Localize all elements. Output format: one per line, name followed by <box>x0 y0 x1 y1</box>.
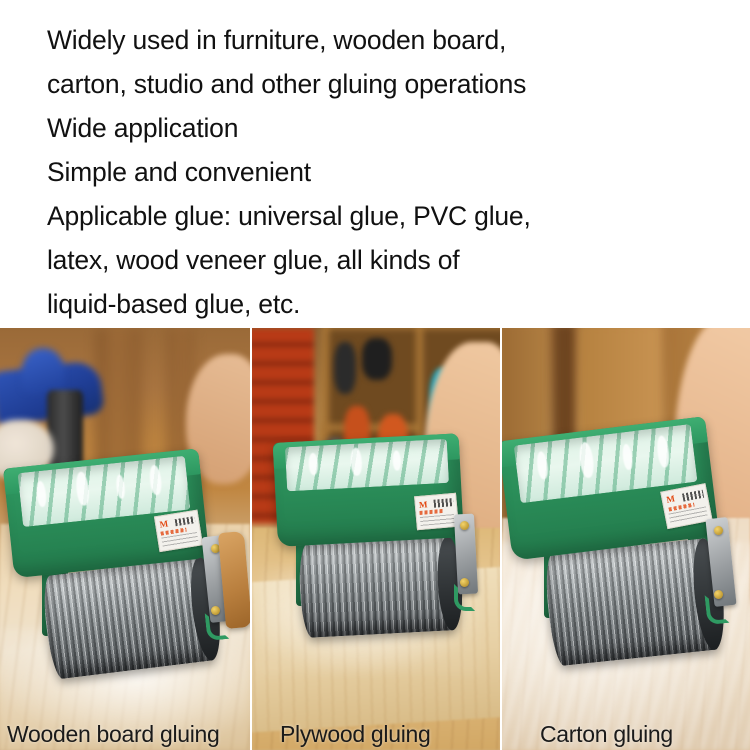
glue-hopper: M <box>273 433 464 547</box>
brand-logo-icon: M <box>419 500 428 510</box>
description-line: carton, studio and other gluing operatio… <box>47 62 750 106</box>
product-brand-label: M <box>154 510 203 552</box>
product-photo-panel-wooden-board: M Wooden board gluing <box>0 328 250 750</box>
glue-hopper: M <box>502 416 719 560</box>
background-blue-clamp-head <box>22 348 64 392</box>
glue-drip <box>308 453 318 475</box>
glue-hopper: M <box>3 448 209 578</box>
green-hook <box>454 584 475 611</box>
glue-roller <box>40 556 221 680</box>
glue-drip <box>656 434 671 467</box>
panel-caption: Wooden board gluing <box>7 721 220 748</box>
glue-drip <box>536 451 549 480</box>
glue-drip <box>149 465 163 496</box>
glue-drip <box>116 474 126 499</box>
brand-text-cn <box>682 490 704 502</box>
brand-logo-icon: M <box>666 495 676 505</box>
glue-drip <box>578 441 595 478</box>
brand-fineprint <box>420 514 455 527</box>
product-photo-panel-carton: M Carton gluing <box>502 328 750 750</box>
bracket-bolt <box>714 526 723 535</box>
brand-text-cn <box>175 516 196 527</box>
product-photo-strip: M Wooden board gluing <box>0 328 750 750</box>
glue-drip <box>621 443 633 470</box>
photo-scene: M <box>252 328 500 750</box>
glue-roller <box>543 537 726 666</box>
glue-drip <box>35 480 47 507</box>
brand-logo-icon: M <box>159 520 169 530</box>
photo-scene: M <box>0 328 250 750</box>
photo-scene: M <box>502 328 750 750</box>
product-brand-label: M <box>660 483 712 529</box>
bracket-bolt <box>460 521 469 530</box>
background-hanging-tool <box>334 342 356 394</box>
glue-drip <box>75 471 90 506</box>
description-line: liquid-based glue, etc. <box>47 282 750 326</box>
glue-roller-device: M <box>8 436 248 686</box>
description-line: Wide application <box>47 106 750 150</box>
panel-caption: Plywood gluing <box>280 721 431 748</box>
description-line: Widely used in furniture, wooden board, <box>47 18 750 62</box>
glue-drip <box>350 448 362 477</box>
product-brand-label: M <box>414 493 459 531</box>
description-line: Simple and convenient <box>47 150 750 194</box>
glue-drip <box>392 450 401 470</box>
brand-text-cn <box>434 499 454 508</box>
glue-roller <box>298 536 463 638</box>
hopper-interior <box>285 439 449 491</box>
product-description-block: Widely used in furniture, wooden board, … <box>0 0 750 328</box>
glue-roller-device: M <box>508 406 750 666</box>
background-hanging-tool <box>362 338 392 380</box>
glue-roller-device: M <box>274 428 500 668</box>
product-photo-panel-plywood: M Plywood gluing <box>252 328 500 750</box>
description-line: latex, wood veneer glue, all kinds of <box>47 238 750 282</box>
description-line: Applicable glue: universal glue, PVC glu… <box>47 194 750 238</box>
panel-caption: Carton gluing <box>540 721 673 748</box>
